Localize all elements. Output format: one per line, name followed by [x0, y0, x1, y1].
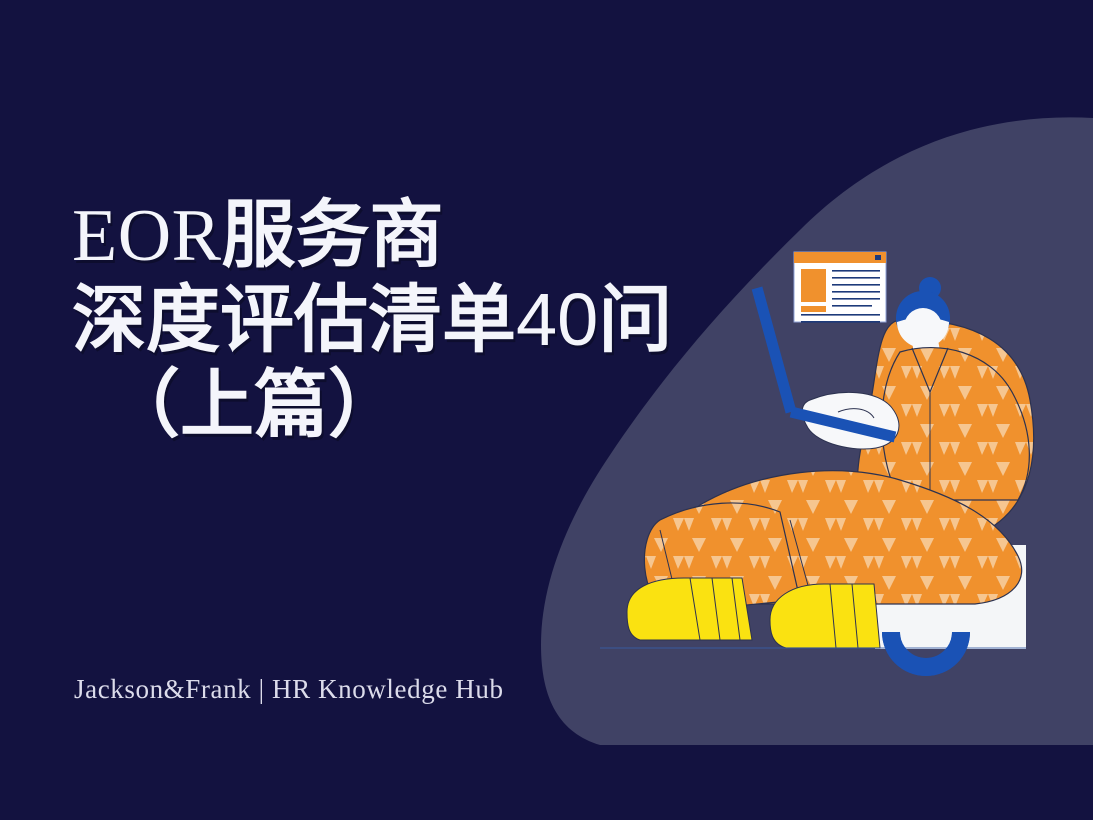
floating-document-window: [794, 252, 886, 323]
title-line-2: 深度评估清单40问: [72, 281, 772, 359]
title-cjk-2b: 问: [598, 278, 672, 361]
title-block: EOR服务商 深度评估清单40问 （上篇）: [72, 196, 772, 444]
title-cjk-2a: 深度评估清单: [72, 278, 516, 361]
title-line-1: EOR服务商: [72, 196, 772, 275]
document-thumbnail: [801, 269, 826, 302]
title-line-3: （上篇）: [72, 366, 772, 444]
document-thumbnail-caption: [801, 306, 826, 312]
close-icon: [875, 255, 881, 260]
shoe-right: [770, 584, 880, 648]
document-window-titlebar: [794, 252, 886, 263]
slide-canvas: EOR服务商 深度评估清单40问 （上篇） Jackson&Frank | HR…: [0, 0, 1093, 820]
title-number: 40: [516, 278, 598, 361]
footer-branding: Jackson&Frank | HR Knowledge Hub: [74, 674, 504, 705]
title-latin: EOR: [72, 195, 222, 277]
person-head: [896, 277, 950, 348]
title-cjk-1: 服务商: [222, 193, 444, 276]
